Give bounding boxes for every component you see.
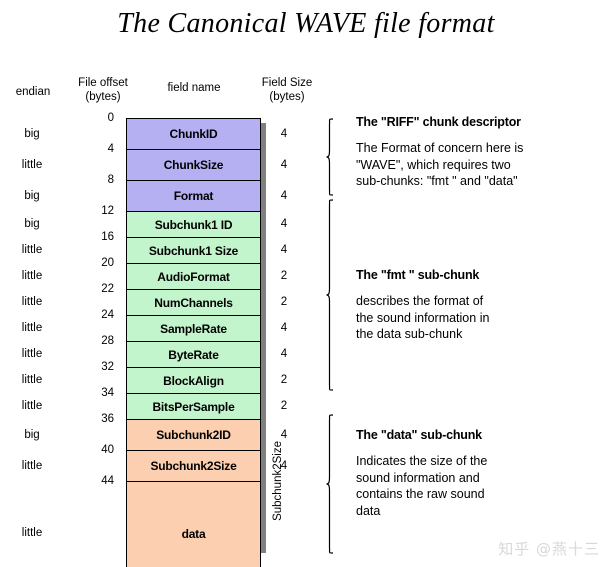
- column-header-field-size-line1: Field Size: [244, 76, 330, 90]
- field-name-label: Subchunk1 Size: [149, 244, 238, 258]
- endian-label-3: big: [0, 218, 64, 230]
- annotation-data-line-2: sound information and: [356, 470, 606, 487]
- file-offset-label-12: 40: [66, 444, 114, 456]
- annotation-fmt-line-2: the sound information in: [356, 310, 606, 327]
- endian-label-1: little: [0, 159, 64, 171]
- watermark: 知乎 @燕十三: [498, 538, 600, 559]
- field-name-label: ByteRate: [168, 348, 218, 362]
- field-name-label: Subchunk2ID: [156, 428, 230, 442]
- field-name-label: SampleRate: [160, 322, 227, 336]
- field-name-table: ChunkIDChunkSizeFormatSubchunk1 IDSubchu…: [126, 118, 261, 567]
- annotation-fmt-chunk: The "fmt " sub-chunk describes the forma…: [356, 268, 606, 343]
- endian-label-13: little: [0, 527, 64, 539]
- column-header-endian-label: endian: [16, 86, 51, 98]
- field-row-blockalign: BlockAlign: [127, 368, 260, 394]
- annotation-riff-line-3: sub-chunks: "fmt " and "data": [356, 173, 606, 190]
- file-offset-label-9: 32: [66, 361, 114, 373]
- file-offset-label-7: 24: [66, 309, 114, 321]
- annotation-riff-chunk: The "RIFF" chunk descriptor The Format o…: [356, 115, 606, 190]
- file-offset-label-6: 22: [66, 283, 114, 295]
- annotation-data-line-1: Indicates the size of the: [356, 453, 606, 470]
- field-row-format: Format: [127, 181, 260, 212]
- field-name-label: NumChannels: [154, 296, 232, 310]
- file-offset-label-13: 44: [66, 475, 114, 487]
- file-offset-label-4: 16: [66, 231, 114, 243]
- column-header-file-offset-line2: (bytes): [60, 90, 146, 104]
- annotation-fmt-body: describes the format of the sound inform…: [356, 293, 606, 343]
- file-offset-label-10: 34: [66, 387, 114, 399]
- annotation-riff-title: The "RIFF" chunk descriptor: [356, 115, 606, 129]
- field-row-chunkid: ChunkID: [127, 119, 260, 150]
- column-header-file-offset-line1: File offset: [60, 76, 146, 90]
- field-size-label-5: 2: [268, 270, 300, 282]
- field-row-data: data: [127, 482, 260, 567]
- annotation-data-line-3: contains the raw sound: [356, 486, 606, 503]
- endian-label-2: big: [0, 190, 64, 202]
- field-size-label-10: 2: [268, 400, 300, 412]
- field-name-label: Format: [174, 189, 213, 203]
- annotation-data-chunk: The "data" sub-chunk Indicates the size …: [356, 428, 606, 519]
- field-row-byterate: ByteRate: [127, 342, 260, 368]
- column-header-endian: endian: [2, 85, 64, 99]
- annotation-fmt-line-1: describes the format of: [356, 293, 606, 310]
- column-header-file-offset: File offset (bytes): [60, 76, 146, 104]
- file-offset-label-0: 0: [66, 112, 114, 124]
- endian-label-10: little: [0, 400, 64, 412]
- file-offset-label-5: 20: [66, 257, 114, 269]
- field-size-label-data-vertical: Subchunk2Size: [272, 441, 284, 521]
- endian-label-11: big: [0, 429, 64, 441]
- field-row-bitspersample: BitsPerSample: [127, 394, 260, 420]
- field-name-label: Subchunk1 ID: [155, 218, 233, 232]
- field-name-label: ChunkSize: [164, 158, 224, 172]
- field-row-samplerate: SampleRate: [127, 316, 260, 342]
- annotation-riff-line-2: "WAVE", which requires two: [356, 157, 606, 174]
- field-size-label-2: 4: [268, 190, 300, 202]
- column-header-field-name: field name: [150, 81, 238, 95]
- field-size-label-1: 4: [268, 159, 300, 171]
- file-offset-label-3: 12: [66, 205, 114, 217]
- annotation-fmt-line-3: the data sub-chunk: [356, 326, 606, 343]
- field-size-label-3: 4: [268, 218, 300, 230]
- endian-label-9: little: [0, 374, 64, 386]
- wave-file-format-diagram: The Canonical WAVE file format endian Fi…: [0, 0, 612, 567]
- field-name-label: AudioFormat: [157, 270, 229, 284]
- field-size-label-0: 4: [268, 128, 300, 140]
- field-row-subchunk2id: Subchunk2ID: [127, 420, 260, 451]
- file-offset-label-8: 28: [66, 335, 114, 347]
- annotation-fmt-title: The "fmt " sub-chunk: [356, 268, 606, 282]
- endian-label-7: little: [0, 322, 64, 334]
- page-title: The Canonical WAVE file format: [0, 8, 612, 40]
- column-header-field-size: Field Size (bytes): [244, 76, 330, 104]
- annotation-data-line-4: data: [356, 503, 606, 520]
- field-row-chunksize: ChunkSize: [127, 150, 260, 181]
- brace-riff-chunk: [326, 118, 342, 196]
- brace-fmt-chunk: [326, 199, 342, 391]
- file-offset-label-11: 36: [66, 413, 114, 425]
- endian-label-8: little: [0, 348, 64, 360]
- annotation-riff-body: The Format of concern here is "WAVE", wh…: [356, 140, 606, 190]
- endian-label-12: little: [0, 460, 64, 472]
- field-name-label: data: [182, 527, 206, 541]
- field-size-label-9: 2: [268, 374, 300, 386]
- field-name-label: ChunkID: [170, 127, 218, 141]
- brace-data-chunk: [326, 414, 342, 554]
- field-size-label-6: 2: [268, 296, 300, 308]
- field-row-numchannels: NumChannels: [127, 290, 260, 316]
- file-offset-label-1: 4: [66, 143, 114, 155]
- endian-label-5: little: [0, 270, 64, 282]
- endian-label-6: little: [0, 296, 64, 308]
- endian-label-0: big: [0, 128, 64, 140]
- column-header-field-name-label: field name: [167, 82, 220, 94]
- annotation-riff-line-1: The Format of concern here is: [356, 140, 606, 157]
- field-name-label: BlockAlign: [163, 374, 224, 388]
- field-name-label: BitsPerSample: [152, 400, 234, 414]
- annotation-data-body: Indicates the size of the sound informat…: [356, 453, 606, 519]
- field-row-subchunk1-id: Subchunk1 ID: [127, 212, 260, 238]
- field-size-label-8: 4: [268, 348, 300, 360]
- file-offset-label-2: 8: [66, 174, 114, 186]
- field-row-subchunk1-size: Subchunk1 Size: [127, 238, 260, 264]
- field-row-subchunk2size: Subchunk2Size: [127, 451, 260, 482]
- field-size-label-7: 4: [268, 322, 300, 334]
- endian-label-4: little: [0, 244, 64, 256]
- field-row-audioformat: AudioFormat: [127, 264, 260, 290]
- field-name-label: Subchunk2Size: [150, 459, 236, 473]
- field-size-label-11: 4: [268, 429, 300, 441]
- column-header-field-size-line2: (bytes): [244, 90, 330, 104]
- annotation-data-title: The "data" sub-chunk: [356, 428, 606, 442]
- field-size-label-4: 4: [268, 244, 300, 256]
